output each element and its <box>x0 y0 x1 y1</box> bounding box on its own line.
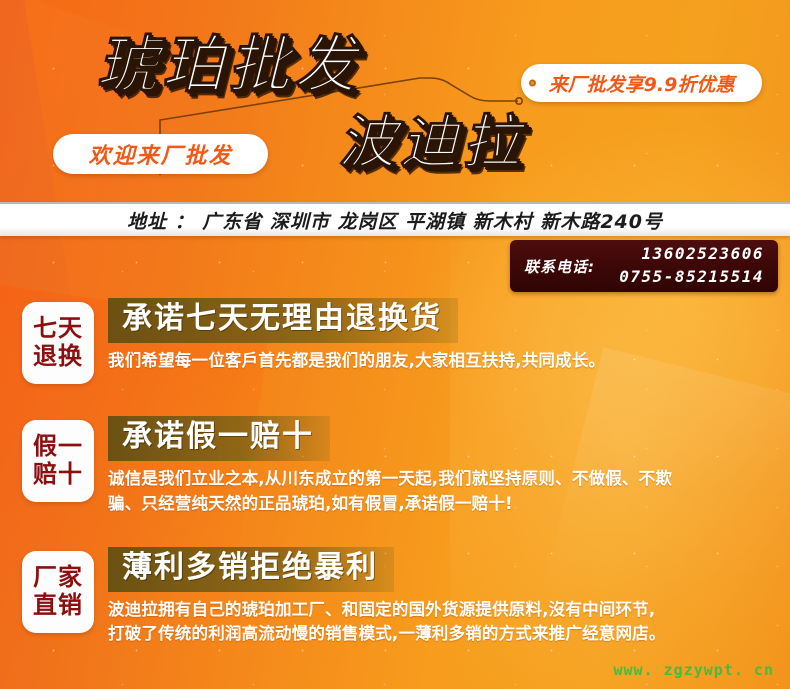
phone-number-mobile: 13602523606 <box>642 243 764 266</box>
feature-item-factory-direct: 厂家 直销 薄利多销拒绝暴利 波迪拉拥有自己的琥珀加工厂、和固定的国外货源提供原… <box>0 545 790 648</box>
contact-numbers: 13602523606 0755-85215514 <box>605 243 764 288</box>
badge-line-1: 假一 <box>33 433 83 461</box>
feature-heading: 承诺七天无理由退换货 <box>108 298 458 343</box>
address-text: 地址 ： 广东省 深圳市 龙岗区 平湖镇 新木村 新木路240号 <box>127 207 663 234</box>
badge-line-1: 七天 <box>33 315 83 343</box>
hero-title-line2: 波迪拉 <box>338 113 524 171</box>
badge-line-1: 厂家 <box>33 564 83 592</box>
promo-pill[interactable]: 来厂批发享9.9折优惠 <box>521 64 762 102</box>
promo-pill-label: 来厂批发享9.9折优惠 <box>549 70 735 97</box>
feature-body: 承诺七天无理由退换货 我们希望每一位客戶首先都是我们的朋友,大家相互扶持,共同成… <box>108 296 605 374</box>
feature-description-line: 打破了传统的利润高流动慢的销售模式,一薄利多销的方式来推广经意网店。 <box>108 622 666 647</box>
contact-phone-box: 联系电话: 13602523606 0755-85215514 <box>510 240 778 292</box>
feature-badge-icon: 假一 赔十 <box>22 420 94 502</box>
badge-line-2: 直销 <box>33 592 83 620</box>
feature-heading: 承诺假一赔十 <box>108 416 330 461</box>
badge-line-2: 退换 <box>33 343 83 371</box>
feature-badge-icon: 七天 退换 <box>22 302 94 384</box>
feature-body: 承诺假一赔十 诚信是我们立业之本,从川东成立的第一天起,我们就坚持原则、不做假、… <box>108 414 672 517</box>
feature-item-fake-tenfold: 假一 赔十 承诺假一赔十 诚信是我们立业之本,从川东成立的第一天起,我们就坚持原… <box>0 414 790 517</box>
bullet-dot-icon <box>529 80 536 87</box>
watermark-url: www. zgzywpt. cn <box>614 661 775 679</box>
contact-label: 联系电话: <box>524 256 595 277</box>
feature-list: 七天 退换 承诺七天无理由退换货 我们希望每一位客戶首先都是我们的朋友,大家相互… <box>0 296 790 647</box>
feature-description: 波迪拉拥有自己的琥珀加工厂、和固定的国外货源提供原料,沒有中间环节, 打破了传统… <box>108 598 666 648</box>
feature-badge-icon: 厂家 直销 <box>22 551 94 633</box>
address-bar: 地址 ： 广东省 深圳市 龙岗区 平湖镇 新木村 新木路240号 <box>0 202 790 236</box>
feature-description-line: 我们希望每一位客戶首先都是我们的朋友,大家相互扶持,共同成长。 <box>108 349 605 374</box>
feature-description-line: 波迪拉拥有自己的琥珀加工厂、和固定的国外货源提供原料,沒有中间环节, <box>108 598 666 623</box>
phone-number-landline: 0755-85215514 <box>619 266 764 289</box>
hero-title-line1: 琥珀批发 <box>96 34 360 96</box>
feature-heading: 薄利多销拒绝暴利 <box>108 547 394 592</box>
feature-body: 薄利多销拒绝暴利 波迪拉拥有自己的琥珀加工厂、和固定的国外货源提供原料,沒有中间… <box>108 545 666 648</box>
badge-line-2: 赔十 <box>33 461 83 489</box>
feature-item-seven-day-return: 七天 退换 承诺七天无理由退换货 我们希望每一位客戶首先都是我们的朋友,大家相互… <box>0 296 790 384</box>
feature-description-line: 骗、只经营纯天然的正品琥珀,如有假冒,承诺假一赔十! <box>108 492 672 517</box>
feature-description: 我们希望每一位客戶首先都是我们的朋友,大家相互扶持,共同成长。 <box>108 349 605 374</box>
promo-banner: 琥珀批发 波迪拉 欢迎来厂批发 来厂批发享9.9折优惠 地址 ： 广东省 深圳市… <box>0 0 790 689</box>
hero-section: 琥珀批发 波迪拉 欢迎来厂批发 来厂批发享9.9折优惠 <box>0 0 790 200</box>
feature-description: 诚信是我们立业之本,从川东成立的第一天起,我们就坚持原则、不做假、不欺 骗、只经… <box>108 467 672 517</box>
welcome-pill[interactable]: 欢迎来厂批发 <box>53 134 268 174</box>
welcome-pill-label: 欢迎来厂批发 <box>88 138 232 170</box>
feature-description-line: 诚信是我们立业之本,从川东成立的第一天起,我们就坚持原则、不做假、不欺 <box>108 467 672 492</box>
